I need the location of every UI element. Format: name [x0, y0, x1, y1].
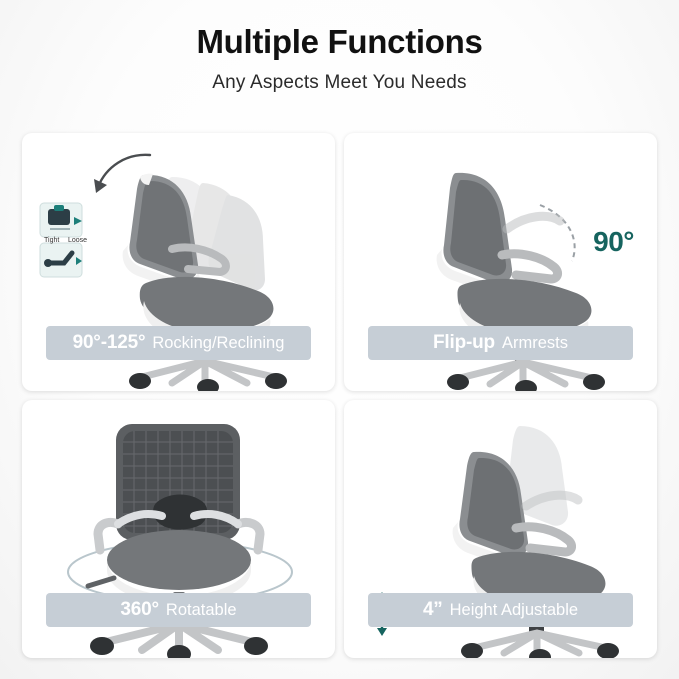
caption-strong: Flip-up	[433, 332, 495, 354]
annotation-90-degrees: 90°	[593, 226, 634, 258]
card-rotatable: 360° Rotatable	[22, 400, 335, 658]
caption-rocking-reclining: 90°-125° Rocking/Reclining	[46, 326, 311, 360]
caption-light: Height Adjustable	[450, 601, 578, 620]
header: Multiple Functions Any Aspects Meet You …	[0, 22, 679, 94]
caption-rotatable: 360° Rotatable	[46, 593, 311, 627]
feature-grid: Tight Loose 90°-125° Rocking/Reclining	[22, 133, 657, 658]
caption-strong: 360°	[120, 599, 159, 621]
card-flip-up-armrests: 90° Flip-up Armrests	[344, 133, 657, 391]
caption-strong: 4”	[423, 599, 443, 621]
caption-flip-up-armrests: Flip-up Armrests	[368, 326, 633, 360]
caption-strong: 90°-125°	[73, 332, 146, 354]
card-rocking-reclining: Tight Loose 90°-125° Rocking/Reclining	[22, 133, 335, 391]
label-tight: Tight	[44, 237, 59, 244]
tension-inset: Tight Loose	[38, 201, 124, 287]
page-title: Multiple Functions	[0, 22, 679, 62]
tension-knob-icon	[38, 201, 128, 291]
caption-light: Rocking/Reclining	[152, 334, 284, 353]
label-loose: Loose	[68, 237, 87, 244]
page-subtitle: Any Aspects Meet You Needs	[0, 72, 679, 94]
product-feature-image: Multiple Functions Any Aspects Meet You …	[0, 0, 679, 679]
card-height-adjustable: 4” Height Adjustable	[344, 400, 657, 658]
caption-light: Rotatable	[166, 601, 237, 620]
caption-height-adjustable: 4” Height Adjustable	[368, 593, 633, 627]
caption-light: Armrests	[502, 334, 568, 353]
